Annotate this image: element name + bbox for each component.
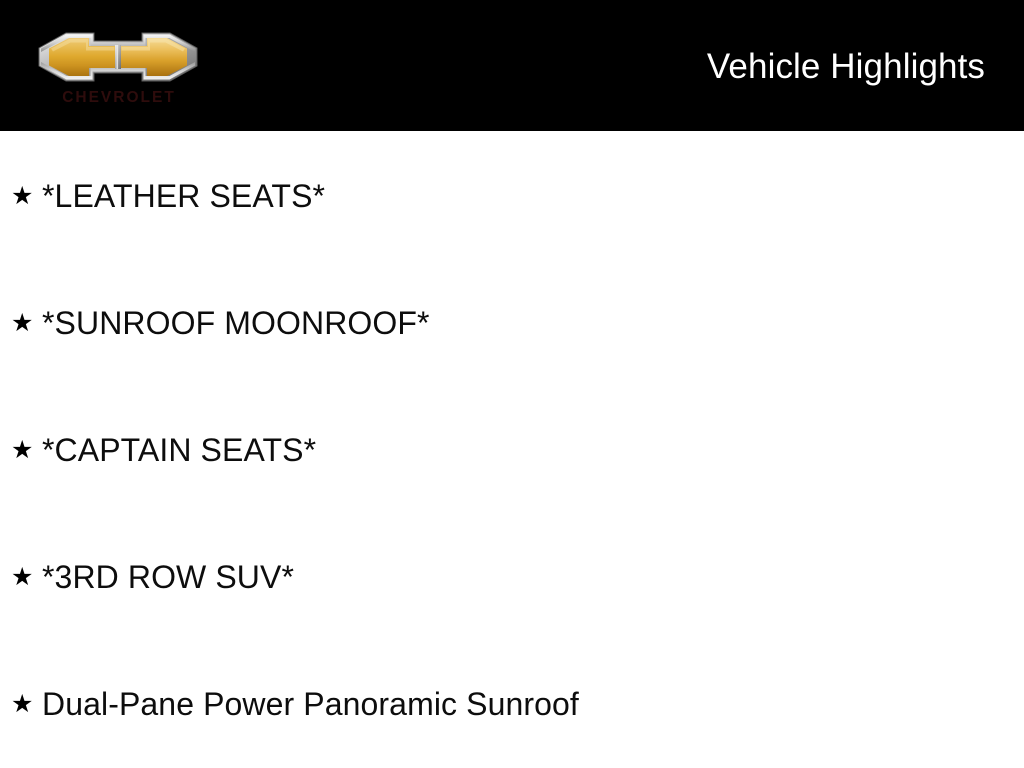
star-icon: ★ xyxy=(11,184,33,209)
vehicle-highlights-page: CHEVROLET Vehicle Highlights ★ *LEATHER … xyxy=(0,0,1024,768)
vehicle-highlights-list: ★ *LEATHER SEATS* ★ *SUNROOF MOONROOF* ★… xyxy=(0,131,1024,768)
highlight-label: Dual-Pane Power Panoramic Sunroof xyxy=(42,685,579,723)
list-item: ★ *SUNROOF MOONROOF* xyxy=(0,298,1024,348)
list-item: ★ Dual-Pane Power Panoramic Sunroof xyxy=(0,679,1024,729)
list-item: ★ *3RD ROW SUV* xyxy=(0,552,1024,602)
highlight-label: *CAPTAIN SEATS* xyxy=(42,431,316,469)
brand-wordmark: CHEVROLET xyxy=(49,88,189,108)
page-title: Vehicle Highlights xyxy=(707,47,985,87)
chevrolet-bowtie-icon xyxy=(36,26,200,88)
list-item: ★ *CAPTAIN SEATS* xyxy=(0,425,1024,475)
page-header: CHEVROLET Vehicle Highlights xyxy=(0,0,1024,131)
list-item: ★ *LEATHER SEATS* xyxy=(0,171,1024,221)
star-icon: ★ xyxy=(11,692,33,717)
brand-logo-block: CHEVROLET xyxy=(36,26,200,114)
star-icon: ★ xyxy=(11,311,33,336)
star-icon: ★ xyxy=(11,565,33,590)
star-icon: ★ xyxy=(11,438,33,463)
highlight-label: *3RD ROW SUV* xyxy=(42,558,294,596)
highlight-label: *LEATHER SEATS* xyxy=(42,177,325,215)
highlight-label: *SUNROOF MOONROOF* xyxy=(42,304,430,342)
